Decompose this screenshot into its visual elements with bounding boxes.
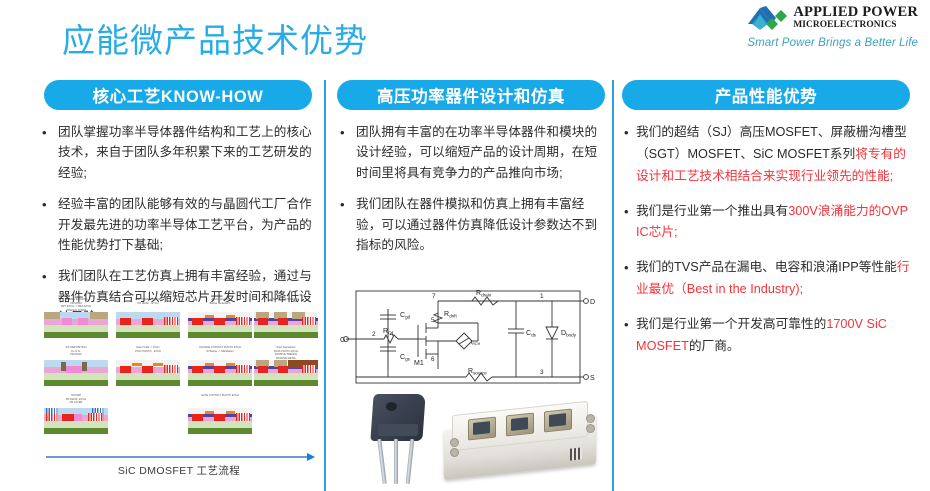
svg-text:3: 3 [540,369,544,376]
bullet-segment-plain: 我们是行业第一个开发高可靠性的 [636,317,826,331]
company-logo: APPLIED POWER MICROELECTRONICS Smart Pow… [728,4,918,49]
sic-dmosfet-process-flow-figure: TRENCH ETCHING PR MASK DRY ETCH -> WET E… [38,298,320,478]
bullet-text: 我们的超结（SJ）高压MOSFET、屏蔽栅沟槽型（SGT）MOSFET、SiC … [636,122,910,188]
logo-name-primary: APPLIED POWER [793,5,918,20]
process-step-caption: Pass Deposition PASS PHOTO ETCH PASSIVE … [254,346,318,360]
slide-root: 应能微产品技术优势 APPLIED POWER MICROELECTRONICS… [0,0,930,491]
mosfet-equivalent-circuit-figure: G D S Cgd Cgs RG Rdrain Rdrift Cds Dbody… [340,285,598,389]
logo-name-secondary: MICROELECTRONICS [793,21,918,31]
logo-mark-icon [746,4,788,32]
process-step: SOURCE CONTACT PHOTO ETCH Ni Barrier -> … [188,346,252,386]
process-step: Pad OXIDE -> Al-PAD PR MASK , ETCH [116,298,180,338]
process-flow-caption: SiC DMOSFET 工艺流程 [38,463,320,478]
column-2-bullets: • 团队拥有丰富的在功率半导体器件和模块的设计经验，可以缩短产品的设计周期，在短… [326,122,612,255]
label-dbody: Dbody [561,330,577,338]
power-module-package [444,404,596,476]
svg-text:6: 6 [431,356,435,363]
process-step-caption: ION IMP PR MASK, ETCH PR LAYER [44,394,108,408]
column-product-advantages: 产品性能优势 • 我们的超结（SJ）高压MOSFET、屏蔽栅沟槽型（SGT）MO… [612,80,916,491]
svg-text:2: 2 [372,331,376,338]
bullet-marker: • [334,122,356,183]
column-2-header: 高压功率器件设计和仿真 [337,80,605,110]
node-numbers: 2 4 5 6 7 1 3 [372,293,544,376]
bullet-text: 我们团队在器件模拟和仿真上拥有丰富经验，可以通过器件仿真降低设计参数达不到指标的… [356,194,606,255]
terminal-label-g: G [340,337,345,344]
process-step: TRENCH ETCHING PR MASK DRY ETCH -> WET E… [44,298,108,338]
column-3-header: 产品性能优势 [622,80,910,110]
list-item: • 我们是行业第一个推出具有300V浪涌能力的OVP IC芯片; [622,201,910,245]
process-step-caption: GATE CONTACT PHOTO ETCH [188,394,252,408]
label-cds: Cds [526,330,537,338]
list-item: • 我们的TVS产品在漏电、电容和浪涌IPP等性能行业最优（Best in th… [622,257,910,301]
bullet-marker: • [622,314,636,358]
terminal-label-d: D [590,299,595,306]
process-step: Gate Oxide -> POLY POLY PHOTO , ETCH [116,346,180,386]
process-step-caption: SiC DEPOSITION P+ N N- PR MASK [44,346,108,360]
bullet-segment-plain-2: 的厂商。 [689,339,740,353]
bullet-text: 我们是行业第一个推出具有300V浪涌能力的OVP IC芯片; [636,201,910,245]
list-item: • 团队拥有丰富的在功率半导体器件和模块的设计经验，可以缩短产品的设计周期，在短… [334,122,606,183]
list-item: • 我们是行业第一个开发高可靠性的1700V SiC MOSFET的厂商。 [622,314,910,358]
svg-text:5: 5 [431,317,435,324]
process-step: ION IMP PR MASK, ETCH PR LAYER [44,394,108,434]
process-step-caption: TRENCH ETCHING PR MASK DRY ETCH -> WET E… [44,298,108,312]
bullet-text: 我们的TVS产品在漏电、电容和浪涌IPP等性能行业最优（Best in the … [636,257,910,301]
label-m1: M1 [414,360,424,367]
process-step: SiC DEPOSITION P+ N N- PR MASK [44,346,108,386]
process-step-caption: JFE Deposition Barrier Metal Etch [188,298,252,312]
bullet-text: 我们是行业第一个开发高可靠性的1700V SiC MOSFET的厂商。 [636,314,910,358]
process-step-grid: TRENCH ETCHING PR MASK DRY ETCH -> WET E… [38,298,320,446]
bullet-marker: • [36,122,58,183]
list-item: • 我们团队在器件模拟和仿真上拥有丰富经验，可以通过器件仿真降低设计参数达不到指… [334,194,606,255]
process-step: GATE CONTACT PHOTO ETCH [188,394,252,434]
process-step-caption: METAL PHOTO ETCH [254,298,318,312]
label-cgs: Cgs [400,354,411,362]
content-columns: 核心工艺KNOW-HOW • 团队掌握功率半导体器件结构和工艺上的核心技术，来自… [0,80,930,491]
svg-text:7: 7 [432,293,436,300]
bullet-marker: • [334,194,356,255]
page-title: 应能微产品技术优势 [62,14,368,62]
svg-text:1: 1 [540,293,544,300]
bullet-text: 团队拥有丰富的在功率半导体器件和模块的设计经验，可以缩短产品的设计周期，在短时间… [356,122,606,183]
bullet-marker: • [622,257,636,301]
process-step: METAL PHOTO ETCH [254,298,318,338]
label-cgd: Cgd [400,312,411,320]
bullet-text: 团队掌握功率半导体器件结构和工艺上的核心技术，来自于团队多年积累下来的工艺研发的… [58,122,318,183]
bullet-marker: • [622,201,636,245]
column-core-process: 核心工艺KNOW-HOW • 团队掌握功率半导体器件结构和工艺上的核心技术，来自… [28,80,324,491]
svg-text:4: 4 [390,331,394,338]
process-step-caption: Pad OXIDE -> Al-PAD PR MASK , ETCH [116,298,180,312]
column-1-bullets: • 团队掌握功率半导体器件结构和工艺上的核心技术，来自于团队多年积累下来的工艺研… [28,122,324,328]
column-device-design: 高压功率器件设计和仿真 • 团队拥有丰富的在功率半导体器件和模块的设计经验，可以… [324,80,612,491]
bullet-text: 经验丰富的团队能够有效的与晶圆代工厂合作开发最先进的功率半导体工艺平台，为产品的… [58,194,318,255]
terminal-label-s: S [590,375,595,382]
list-item: • 团队掌握功率半导体器件结构和工艺上的核心技术，来自于团队多年积累下来的工艺研… [36,122,318,183]
column-3-bullets: • 我们的超结（SJ）高压MOSFET、屏蔽栅沟槽型（SGT）MOSFET、Si… [614,122,916,358]
process-step-caption: Gate Oxide -> POLY POLY PHOTO , ETCH [116,346,180,360]
process-direction-arrow-icon [46,456,308,458]
list-item: • 我们的超结（SJ）高压MOSFET、屏蔽栅沟槽型（SGT）MOSFET、Si… [622,122,910,188]
process-step: Pass Deposition PASS PHOTO ETCH PASSIVE … [254,346,318,386]
list-item: • 经验丰富的团队能够有效的与晶圆代工厂合作开发最先进的功率半导体工艺平台，为产… [36,194,318,255]
bullet-segment-plain: 我们的TVS产品在漏电、电容和浪涌IPP等性能 [636,260,897,274]
logo-tagline: Smart Power Brings a Better Life [728,37,918,49]
bullet-marker: • [36,194,58,255]
bullet-segment-plain: 我们是行业第一个推出具有 [636,204,788,218]
process-step: JFE Deposition Barrier Metal Etch [188,298,252,338]
label-rsource: Rsource [468,368,487,376]
to247-discrete-package [366,394,430,486]
column-1-header: 核心工艺KNOW-HOW [44,80,312,110]
bullet-marker: • [622,122,636,188]
product-photos [336,392,606,490]
label-rdrift: Rdrift [444,311,457,319]
process-step-caption: SOURCE CONTACT PHOTO ETCH Ni Barrier -> … [188,346,252,360]
